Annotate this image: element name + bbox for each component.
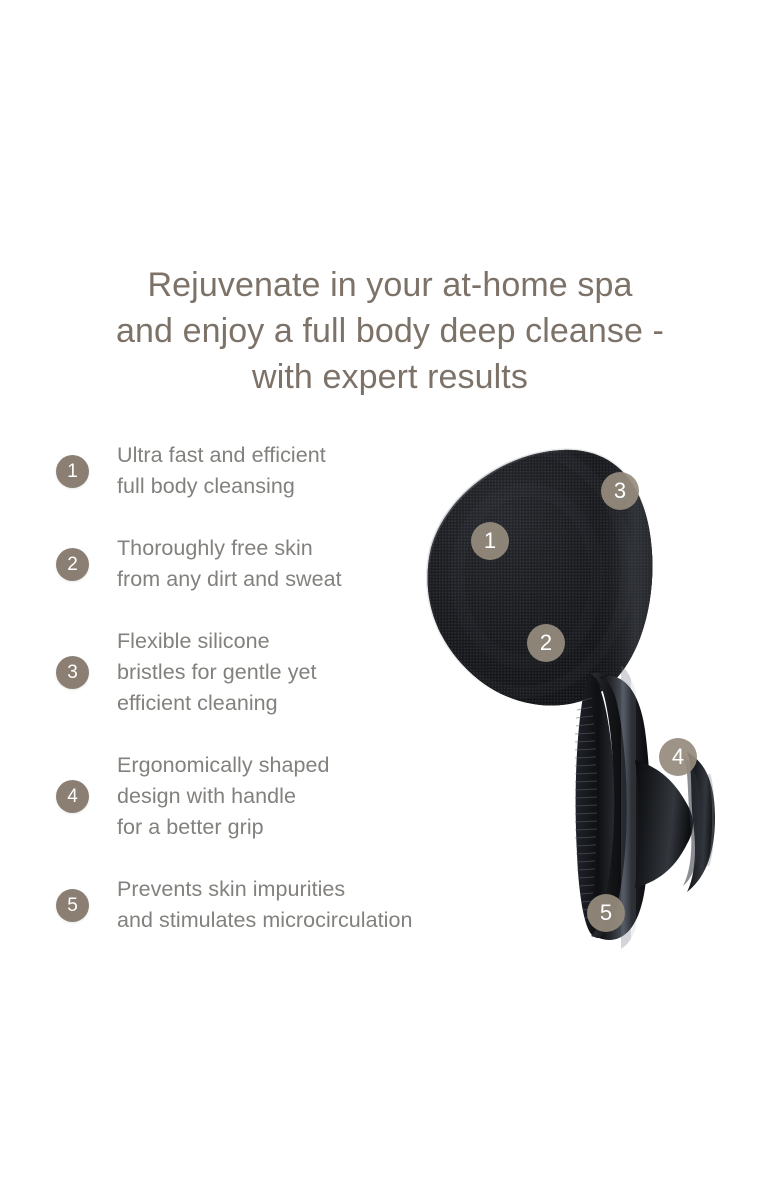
callout-badge-5: 5 [587, 894, 625, 932]
feature-label: Prevents skin impurities and stimulates … [117, 874, 413, 936]
feature-number-badge: 4 [56, 780, 89, 813]
callout-badge-2: 2 [527, 624, 565, 662]
feature-label: Flexible silicone bristles for gentle ye… [117, 626, 317, 719]
callout-badge-4: 4 [659, 738, 697, 776]
feature-number-badge: 2 [56, 548, 89, 581]
list-item: 2 Thoroughly free skin from any dirt and… [56, 533, 496, 595]
feature-label: Ultra fast and efficient full body clean… [117, 440, 326, 502]
infographic-page: Rejuvenate in your at-home spa and enjoy… [0, 0, 780, 1196]
list-item: 5 Prevents skin impurities and stimulate… [56, 874, 496, 936]
list-item: 4 Ergonomically shaped design with handl… [56, 750, 496, 843]
feature-list: 1 Ultra fast and efficient full body cle… [56, 440, 496, 936]
list-item: 1 Ultra fast and efficient full body cle… [56, 440, 496, 502]
callout-badge-3: 3 [601, 472, 639, 510]
page-title: Rejuvenate in your at-home spa and enjoy… [60, 262, 720, 400]
feature-label: Thoroughly free skin from any dirt and s… [117, 533, 342, 595]
list-item: 3 Flexible silicone bristles for gentle … [56, 626, 496, 719]
feature-number-badge: 5 [56, 889, 89, 922]
feature-label: Ergonomically shaped design with handle … [117, 750, 330, 843]
feature-number-badge: 1 [56, 455, 89, 488]
feature-number-badge: 3 [56, 656, 89, 689]
